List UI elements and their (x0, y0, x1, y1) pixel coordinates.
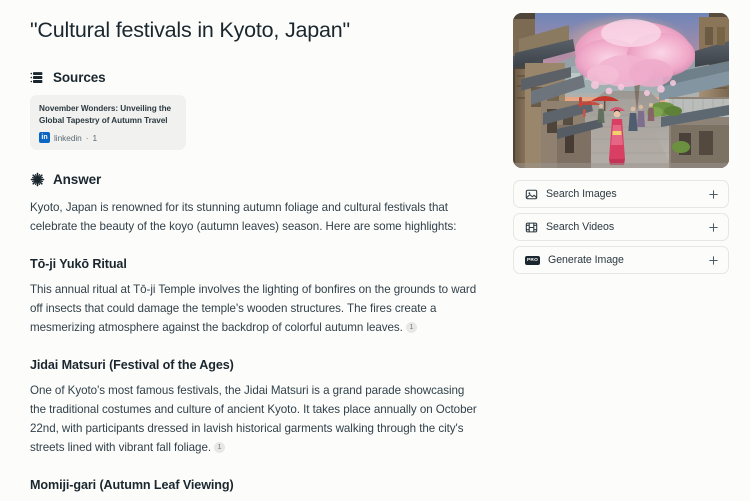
source-separator: · (86, 133, 89, 143)
image-icon (525, 188, 538, 201)
answer-body: Kyoto, Japan is renowned for its stunnin… (30, 199, 478, 501)
film-icon (525, 221, 538, 234)
sources-list-icon (30, 70, 45, 85)
answer-label: Answer (53, 172, 101, 187)
section-heading-momiji-gari: Momiji-gari (Autumn Leaf Viewing) (30, 477, 478, 495)
sidebar-column: Search Images Search Videos (500, 0, 750, 501)
sparkle-icon (30, 172, 45, 187)
source-count: 1 (92, 133, 97, 143)
answer-section-header: Answer (30, 172, 478, 187)
linkedin-icon: in (39, 132, 50, 143)
citation-badge[interactable]: 1 (406, 322, 417, 333)
section-heading-jidai-matsuri: Jidai Matsuri (Festival of the Ages) (30, 357, 478, 375)
pro-badge-icon: PRO (525, 256, 540, 265)
section-heading-toji: Tō-ji Yukō Ritual (30, 256, 478, 274)
sources-card-list: November Wonders: Unveiling the Global T… (30, 95, 478, 150)
search-images-label: Search Images (546, 188, 708, 200)
section-body-toji: This annual ritual at Tō-ji Temple invol… (30, 281, 478, 337)
generate-image-button[interactable]: PRO Generate Image (513, 246, 729, 274)
section-body-text: One of Kyoto's most famous festivals, th… (30, 384, 477, 453)
plus-icon[interactable] (708, 189, 719, 200)
source-card-meta: in linkedin · 1 (39, 132, 177, 143)
sources-label: Sources (53, 70, 106, 85)
page-title: "Cultural festivals in Kyoto, Japan" (30, 14, 478, 45)
sidebar-action-list: Search Images Search Videos (513, 180, 729, 274)
source-name: linkedin (54, 133, 82, 143)
source-card[interactable]: November Wonders: Unveiling the Global T… (30, 95, 186, 150)
hero-image[interactable] (513, 13, 729, 168)
search-videos-button[interactable]: Search Videos (513, 213, 729, 241)
search-videos-label: Search Videos (546, 221, 708, 233)
citation-badge[interactable]: 1 (214, 442, 225, 453)
answer-intro-paragraph: Kyoto, Japan is renowned for its stunnin… (30, 199, 478, 237)
answer-page: "Cultural festivals in Kyoto, Japan" Sou… (0, 0, 750, 501)
sources-section-header: Sources (30, 70, 478, 85)
source-card-title: November Wonders: Unveiling the Global T… (39, 103, 177, 126)
main-content-column: "Cultural festivals in Kyoto, Japan" Sou… (0, 0, 500, 501)
search-images-button[interactable]: Search Images (513, 180, 729, 208)
plus-icon[interactable] (708, 222, 719, 233)
plus-icon[interactable] (708, 255, 719, 266)
generate-image-label: Generate Image (548, 254, 708, 266)
section-body-jidai-matsuri: One of Kyoto's most famous festivals, th… (30, 382, 478, 457)
